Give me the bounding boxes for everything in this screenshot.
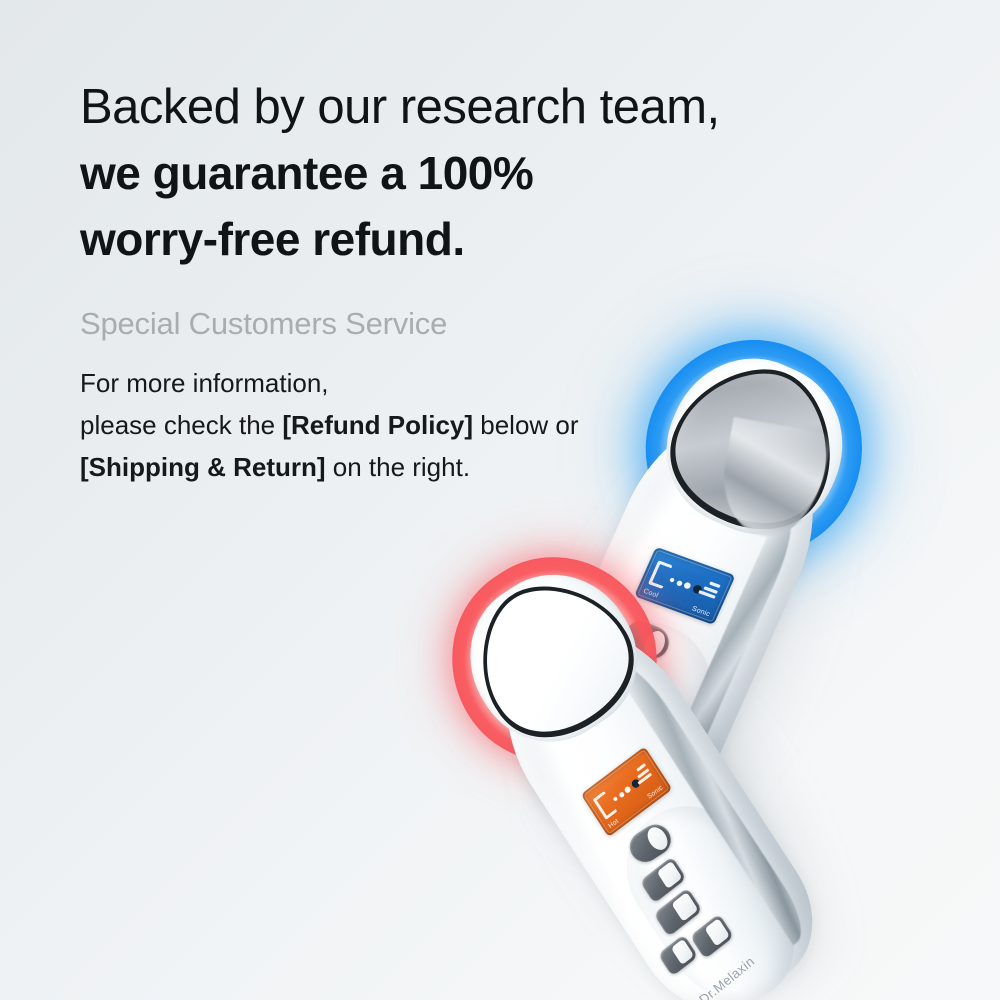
page-headline: Backed by our research team, we guarante…: [80, 74, 910, 272]
shipping-return-link[interactable]: [Shipping & Return]: [80, 452, 326, 482]
body-line-2: please check the [Refund Policy] below o…: [80, 404, 910, 446]
promo-copy-block: Backed by our research team, we guarante…: [80, 74, 910, 488]
body-line-3: [Shipping & Return] on the right.: [80, 446, 910, 488]
subheading: Special Customers Service: [80, 304, 910, 344]
body-line-2-suffix: below or: [473, 410, 579, 440]
headline-line-1: Backed by our research team,: [80, 74, 910, 140]
headline-line-3: worry-free refund.: [80, 206, 910, 272]
body-line-3-suffix: on the right.: [326, 452, 471, 482]
body-copy: For more information, please check the […: [80, 362, 910, 488]
headline-line-2: we guarantee a 100%: [80, 140, 910, 206]
body-line-2-prefix: please check the: [80, 410, 282, 440]
refund-policy-link[interactable]: [Refund Policy]: [282, 410, 473, 440]
body-line-1: For more information,: [80, 362, 910, 404]
